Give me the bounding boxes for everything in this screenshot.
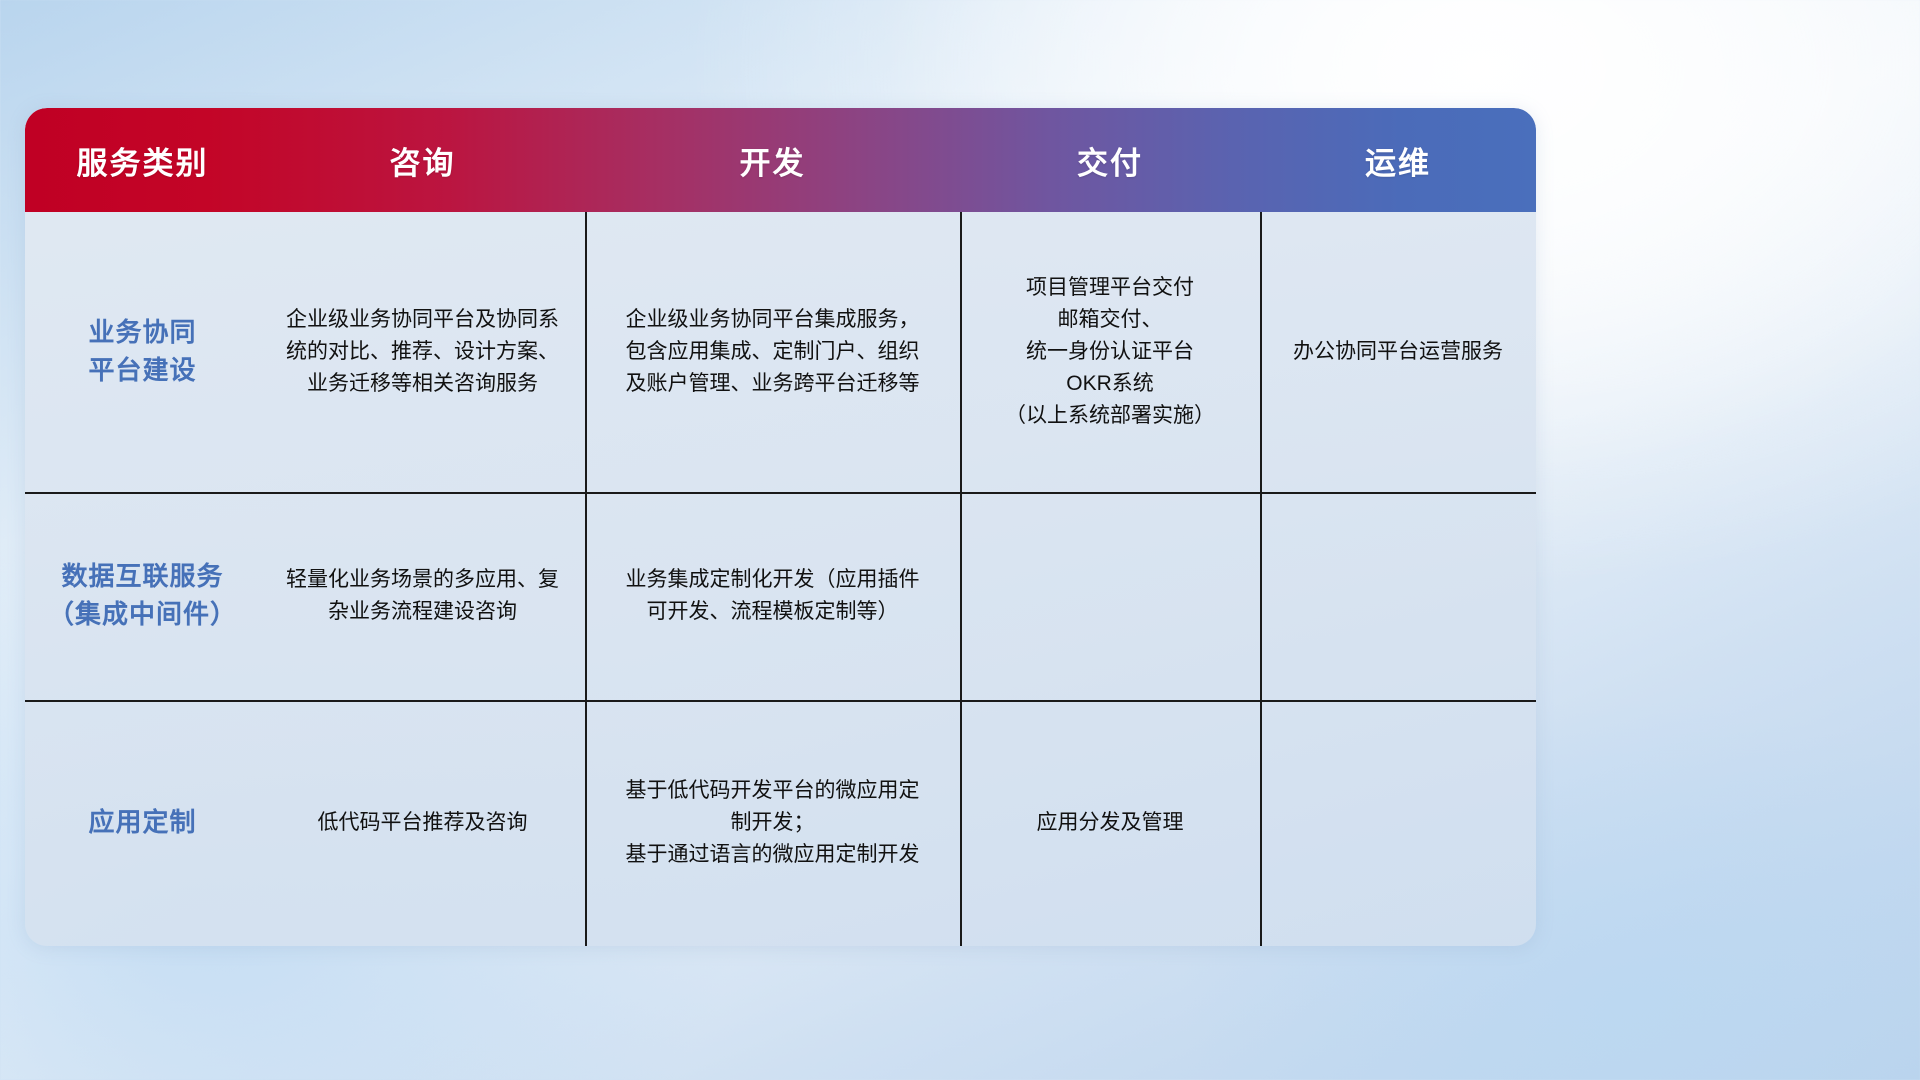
cell-consulting: 低代码平台推荐及咨询 [260, 700, 585, 946]
table-row: 业务协同 平台建设 企业级业务协同平台及协同系 统的对比、推荐、设计方案、 业务… [25, 212, 1536, 492]
cell-operations [1260, 700, 1536, 946]
table-body: 业务协同 平台建设 企业级业务协同平台及协同系 统的对比、推荐、设计方案、 业务… [25, 212, 1536, 946]
cell-delivery: 应用分发及管理 [960, 700, 1260, 946]
table-header-row: 服务类别 咨询 开发 交付 运维 [25, 108, 1536, 212]
cell-consulting: 企业级业务协同平台及协同系 统的对比、推荐、设计方案、 业务迁移等相关咨询服务 [260, 212, 585, 492]
row-category-label: 业务协同 平台建设 [25, 212, 260, 492]
cell-operations [1260, 492, 1536, 700]
column-header-category: 服务类别 [25, 108, 260, 212]
cell-consulting: 轻量化业务场景的多应用、复 杂业务流程建设咨询 [260, 492, 585, 700]
column-header-delivery: 交付 [960, 108, 1260, 212]
column-header-development: 开发 [585, 108, 960, 212]
cell-delivery [960, 492, 1260, 700]
cell-development: 企业级业务协同平台集成服务， 包含应用集成、定制门户、组织 及账户管理、业务跨平… [585, 212, 960, 492]
cell-delivery: 项目管理平台交付 邮箱交付、 统一身份认证平台 OKR系统 （以上系统部署实施） [960, 212, 1260, 492]
service-category-table: 服务类别 咨询 开发 交付 运维 业务协同 平台建设 企业级业务协同平台及协同系… [25, 108, 1536, 946]
column-header-operations: 运维 [1260, 108, 1536, 212]
table-row: 数据互联服务 （集成中间件） 轻量化业务场景的多应用、复 杂业务流程建设咨询 业… [25, 492, 1536, 700]
row-category-label: 应用定制 [25, 700, 260, 946]
cell-operations: 办公协同平台运营服务 [1260, 212, 1536, 492]
cell-development: 业务集成定制化开发（应用插件 可开发、流程模板定制等） [585, 492, 960, 700]
column-header-consulting: 咨询 [260, 108, 585, 212]
cell-development: 基于低代码开发平台的微应用定 制开发； 基于通过语言的微应用定制开发 [585, 700, 960, 946]
row-category-label: 数据互联服务 （集成中间件） [25, 492, 260, 700]
table-row: 应用定制 低代码平台推荐及咨询 基于低代码开发平台的微应用定 制开发； 基于通过… [25, 700, 1536, 946]
